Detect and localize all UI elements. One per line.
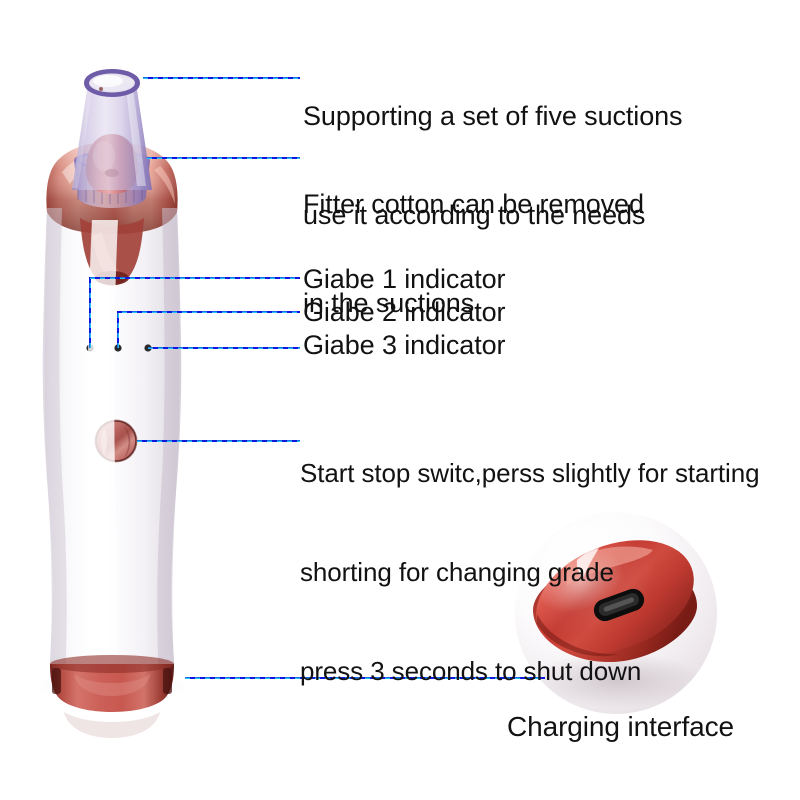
annotation-gauge-1: Giabe 1 indicator <box>303 263 505 296</box>
annotation-start-stop-switch: Start stop switc,perss slightly for star… <box>300 391 759 754</box>
annotation-gauge-2: Giabe 2 indicator <box>303 296 505 329</box>
leader-line-gauge2 <box>118 312 300 348</box>
annotation-switch-line2: shorting for changing grade <box>300 556 759 589</box>
annotation-cotton-line1: Fitter cotton can be removed <box>303 188 644 221</box>
infographic-canvas: Supporting a set of five suctions use it… <box>0 0 800 800</box>
annotation-switch-line3: press 3 seconds to shut down <box>300 655 759 688</box>
annotation-gauge-3: Giabe 3 indicator <box>303 329 505 362</box>
annotation-charging-interface: Charging interface <box>507 710 734 743</box>
leader-dash-gauge2 <box>118 312 300 348</box>
annotation-switch-line1: Start stop switc,perss slightly for star… <box>300 457 759 490</box>
